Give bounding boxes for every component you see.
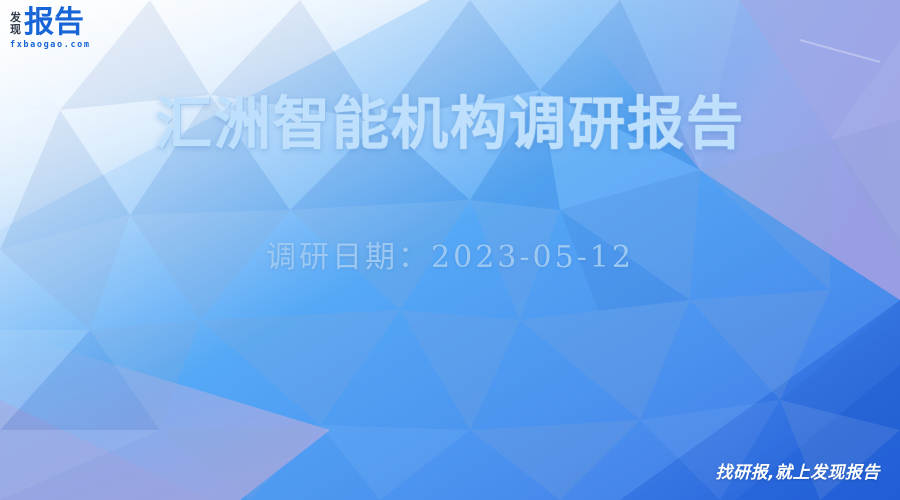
footer-slogan: 找研报,就上发现报告 [716,462,880,484]
logo-wordmark: 报告 [24,8,84,38]
site-logo[interactable]: 发 现 报告 fxbaogao.com [10,8,91,50]
logo-stacked-characters: 发 现 [10,12,21,38]
logo-url: fxbaogao.com [10,40,91,50]
logo-char-xian: 现 [10,24,21,36]
logo-wordmark-row: 发 现 报告 [10,8,84,38]
report-cover: 发 现 报告 fxbaogao.com 汇洲智能机构调研报告 调研日期：2023… [0,0,900,500]
low-poly-background [0,0,900,500]
